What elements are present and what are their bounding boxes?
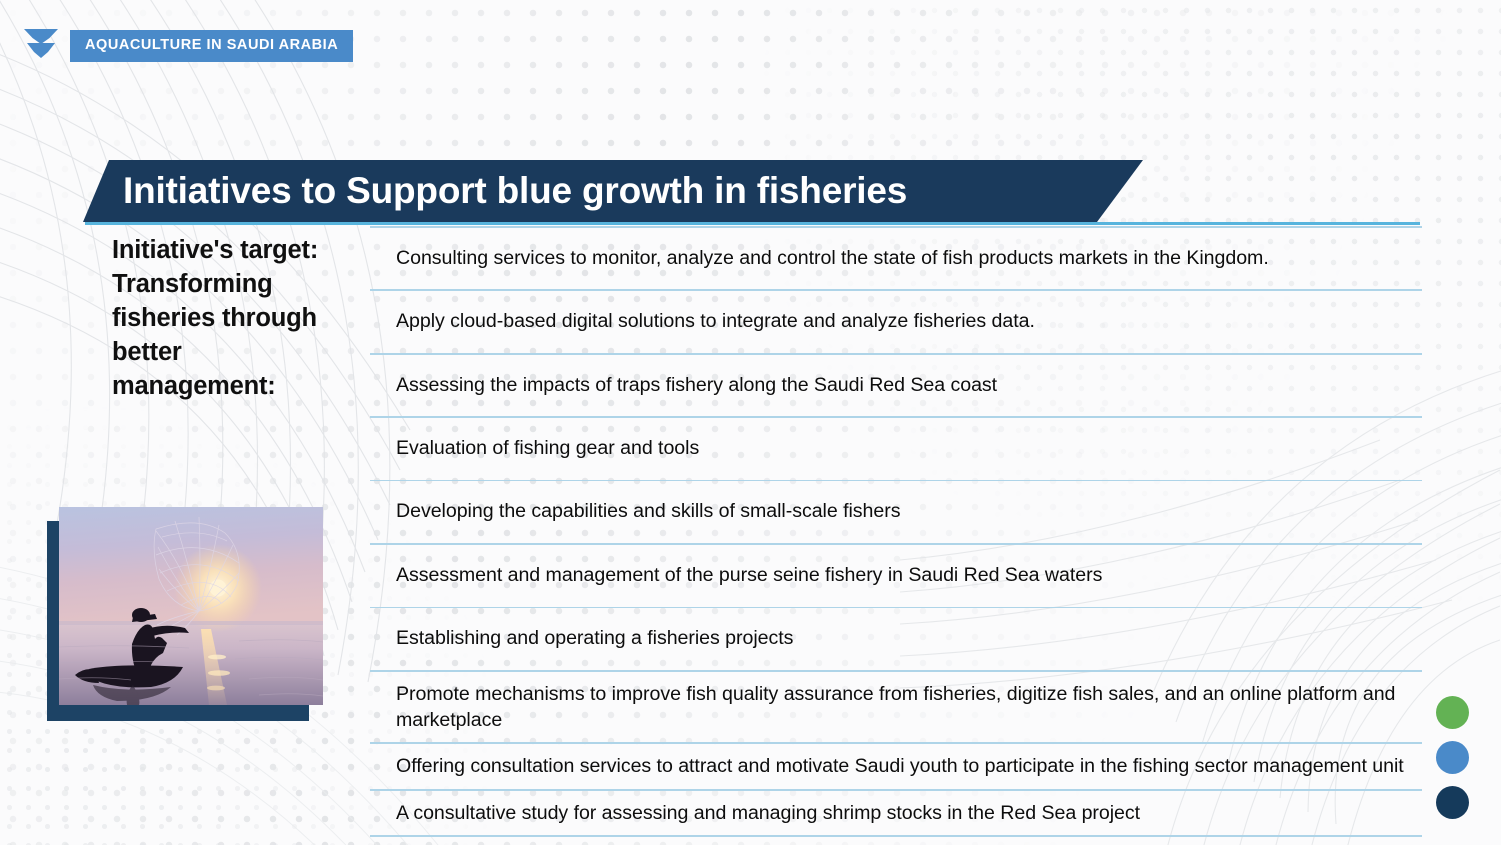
decorative-dots: [1436, 696, 1469, 819]
initiatives-list: Consulting services to monitor, analyze …: [370, 226, 1422, 837]
list-item: Evaluation of fishing gear and tools: [370, 418, 1422, 480]
list-item: Assessing the impacts of traps fishery a…: [370, 355, 1422, 417]
double-chevron-down-icon: [18, 24, 64, 68]
header-tag-label: AQUACULTURE IN SAUDI ARABIA: [70, 30, 353, 62]
list-separator: [370, 835, 1422, 837]
list-item: Establishing and operating a fisheries p…: [370, 608, 1422, 670]
list-item: A consultative study for assessing and m…: [370, 791, 1422, 836]
header-brand: AQUACULTURE IN SAUDI ARABIA: [18, 24, 353, 68]
title-underline-rule: [85, 222, 1420, 225]
list-item: Developing the capabilities and skills o…: [370, 481, 1422, 543]
list-item: Promote mechanisms to improve fish quali…: [370, 672, 1422, 743]
list-item: Offering consultation services to attrac…: [370, 744, 1422, 789]
page-title: Initiatives to Support blue growth in fi…: [123, 170, 907, 212]
list-item: Consulting services to monitor, analyze …: [370, 228, 1422, 290]
fisherman-photo: [59, 507, 323, 705]
slide-title-banner: Initiatives to Support blue growth in fi…: [83, 160, 1143, 222]
slide-canvas: AQUACULTURE IN SAUDI ARABIA Initiatives …: [0, 0, 1501, 845]
dot-green: [1436, 696, 1469, 729]
dot-navy: [1436, 786, 1469, 819]
list-item: Apply cloud-based digital solutions to i…: [370, 291, 1422, 353]
dot-blue: [1436, 741, 1469, 774]
list-item: Assessment and management of the purse s…: [370, 545, 1422, 607]
initiative-target-label: Initiative's target: Transforming fisher…: [112, 234, 352, 404]
